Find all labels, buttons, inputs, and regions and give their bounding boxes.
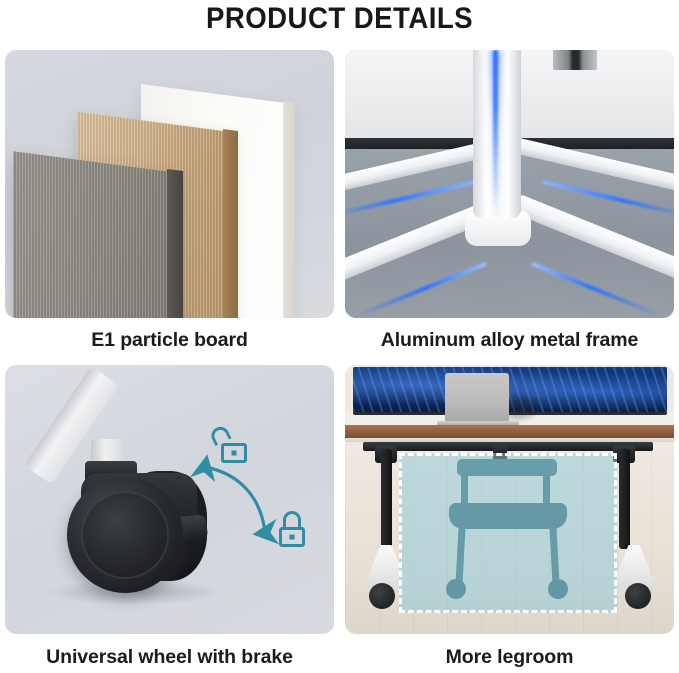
desk-leg-right <box>619 449 630 549</box>
detail-card-universal-wheel[interactable]: Universal wheel with brake <box>5 365 334 670</box>
board-gray-edge <box>167 169 183 318</box>
monitor-screen <box>353 367 667 415</box>
chair-caster-left <box>446 579 466 599</box>
detail-card-more-legroom[interactable]: More legroom <box>345 365 674 670</box>
metal-frame-image <box>345 50 674 318</box>
board-white <box>141 84 293 318</box>
frame-carpet-floor <box>345 149 674 318</box>
desk-shadow <box>495 391 543 423</box>
board-white-edge <box>283 101 295 318</box>
lock-indicator-group <box>5 365 334 634</box>
more-legroom-image <box>345 365 674 634</box>
column-blue-glow <box>493 50 498 210</box>
chair-back-post-right <box>543 469 550 515</box>
detail-card-particle-board[interactable]: E1 particle board <box>5 50 334 365</box>
desk-frame-rail <box>363 442 653 451</box>
white-leg-lower <box>91 439 123 495</box>
blue-light-streak-upper-right <box>542 180 674 218</box>
universal-wheel-image <box>5 365 334 634</box>
frame-vertical-column <box>473 50 521 218</box>
desk-clamp-left <box>375 445 397 463</box>
frame-hardware-bracket <box>553 50 597 70</box>
caster-rear-wheel <box>121 471 207 581</box>
blue-light-streak-lower-left <box>355 262 486 318</box>
desk-leg-left <box>381 449 392 549</box>
caster-collar <box>85 461 137 483</box>
monitor-wallpaper <box>353 367 667 412</box>
chair-leg-right <box>549 525 559 587</box>
brake-lever <box>154 514 209 546</box>
blue-light-streak-lower-right <box>531 262 662 318</box>
desk-caster-left <box>369 583 395 609</box>
column-glow-halo <box>489 50 502 200</box>
room-wall <box>345 413 674 435</box>
chair-seat <box>449 503 567 529</box>
unlock-icon <box>221 443 247 463</box>
detail-caption-more-legroom: More legroom <box>345 645 674 669</box>
caster-housing <box>81 473 197 549</box>
chair-back-post-left <box>461 469 468 515</box>
lock-icon-shackle <box>283 511 301 527</box>
laptop <box>445 373 509 423</box>
blue-light-streak-upper-left <box>345 180 476 218</box>
frame-upper-left-beam <box>345 137 506 194</box>
chair-caster-right <box>548 579 568 599</box>
product-details-page: PRODUCT DETAILS E1 particle board <box>0 0 679 673</box>
brake-direction-arrow-icon <box>5 365 334 634</box>
desk-edge <box>345 438 674 442</box>
desk-clamp-center <box>493 443 507 461</box>
detail-caption-metal-frame: Aluminum alloy metal frame <box>345 328 674 352</box>
chair-leg-left <box>455 525 465 587</box>
page-title: PRODUCT DETAILS <box>27 2 652 36</box>
detail-caption-universal-wheel: Universal wheel with brake <box>5 645 334 669</box>
room-floor <box>345 451 674 634</box>
board-oak <box>77 112 233 318</box>
laptop-base <box>437 421 519 426</box>
white-leg-upper <box>24 366 119 484</box>
frame-wall <box>345 50 674 142</box>
chair-backrest <box>457 459 557 476</box>
frame-upper-right-beam <box>506 136 674 197</box>
desk-caster-right <box>625 583 651 609</box>
legroom-highlight-area <box>399 453 617 613</box>
frame-lower-left-beam <box>345 195 507 288</box>
desk-tabletop <box>345 425 674 438</box>
board-oak-edge <box>223 129 238 318</box>
frame-center-hub <box>465 210 531 246</box>
frame-lower-right-beam <box>509 193 674 292</box>
frame-dark-band <box>345 138 674 149</box>
desk-foot-left <box>363 545 409 589</box>
particle-board-image <box>5 50 334 318</box>
lock-icon <box>279 527 305 547</box>
wheel-floor-shadow <box>45 579 225 605</box>
details-grid: E1 particle board Al <box>5 50 674 670</box>
board-gray <box>13 151 177 318</box>
detail-card-metal-frame[interactable]: Aluminum alloy metal frame <box>345 50 674 365</box>
detail-caption-particle-board: E1 particle board <box>5 328 334 352</box>
unlock-icon-shackle <box>208 424 231 446</box>
desk-clamp-right <box>613 445 635 463</box>
desk-foot-right <box>611 545 657 589</box>
caster-front-wheel <box>67 477 183 593</box>
